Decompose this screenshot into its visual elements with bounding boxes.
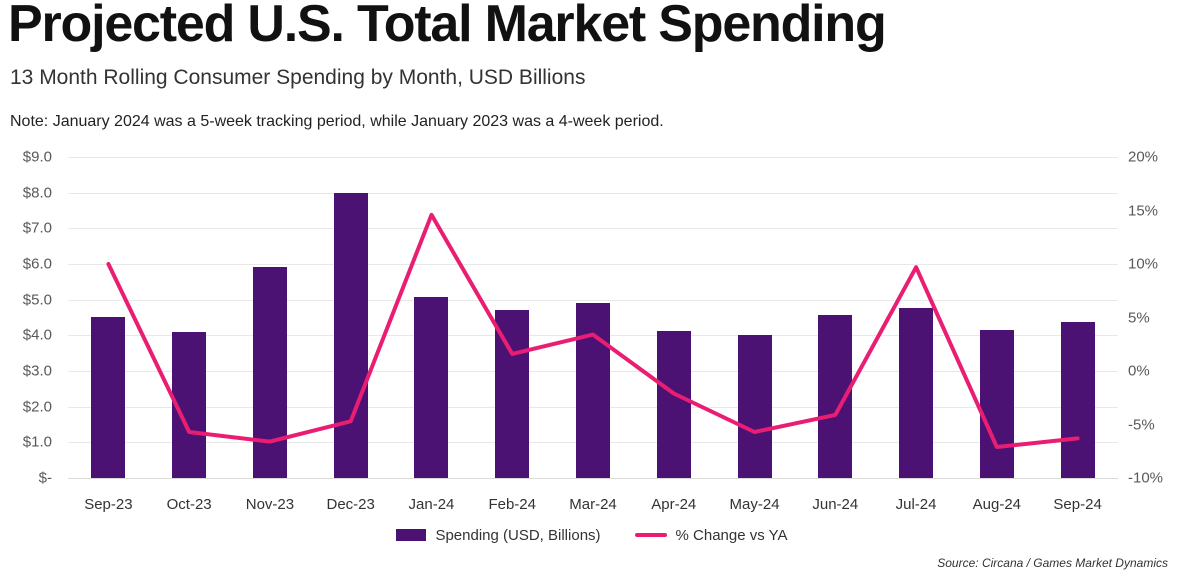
line-path [108, 215, 1077, 447]
right-axis-tick: -10% [1128, 470, 1163, 487]
plot-area: $9.0$8.0$7.0$6.0$5.0$4.0$3.0$2.0$1.0$- 2… [0, 145, 1184, 490]
right-axis-tick: 10% [1128, 256, 1158, 273]
left-axis-tick: $9.0 [23, 149, 52, 166]
right-axis-tick: 20% [1128, 149, 1158, 166]
chart-note: Note: January 2024 was a 5-week tracking… [10, 113, 664, 131]
x-axis-tick: Jun-24 [812, 496, 858, 513]
left-axis-tick: $5.0 [23, 291, 52, 308]
x-axis-tick: Feb-24 [488, 496, 536, 513]
x-axis-labels: Sep-23Oct-23Nov-23Dec-23Jan-24Feb-24Mar-… [68, 496, 1118, 522]
x-axis-tick: Sep-24 [1053, 496, 1101, 513]
legend-label: Spending (USD, Billions) [435, 527, 600, 544]
left-axis-tick: $4.0 [23, 327, 52, 344]
right-axis-labels: 20%15%10%5%0%-5%-10% [1118, 145, 1184, 490]
left-axis-labels: $9.0$8.0$7.0$6.0$5.0$4.0$3.0$2.0$1.0$- [0, 145, 62, 490]
legend-line-swatch-icon [635, 533, 667, 537]
x-axis-tick: May-24 [730, 496, 780, 513]
left-axis-tick: $- [39, 470, 52, 487]
legend-item[interactable]: Spending (USD, Billions) [396, 527, 600, 544]
chart-page: Projected U.S. Total Market Spending 13 … [0, 0, 1184, 582]
source-note: Source: Circana / Games Market Dynamics [937, 556, 1168, 570]
right-axis-tick: 15% [1128, 202, 1158, 219]
legend-item[interactable]: % Change vs YA [635, 527, 788, 544]
x-axis-tick: Nov-23 [246, 496, 294, 513]
left-axis-tick: $1.0 [23, 434, 52, 451]
left-axis-tick: $7.0 [23, 220, 52, 237]
page-title: Projected U.S. Total Market Spending [8, 0, 886, 50]
legend-label: % Change vs YA [676, 527, 788, 544]
left-axis-tick: $2.0 [23, 398, 52, 415]
x-axis-tick: Oct-23 [167, 496, 212, 513]
x-axis-tick: Aug-24 [973, 496, 1021, 513]
right-axis-tick: 0% [1128, 363, 1150, 380]
legend-bar-swatch-icon [396, 529, 426, 541]
left-axis-tick: $6.0 [23, 256, 52, 273]
page-subtitle: 13 Month Rolling Consumer Spending by Mo… [10, 66, 585, 90]
x-axis-tick: Sep-23 [84, 496, 132, 513]
x-axis-tick: Apr-24 [651, 496, 696, 513]
chart-legend: Spending (USD, Billions)% Change vs YA [0, 522, 1184, 548]
right-axis-tick: 5% [1128, 309, 1150, 326]
left-axis-tick: $8.0 [23, 184, 52, 201]
x-axis-tick: Jan-24 [409, 496, 455, 513]
x-axis-tick: Jul-24 [896, 496, 937, 513]
right-axis-tick: -5% [1128, 416, 1155, 433]
line-series [68, 145, 1118, 490]
x-axis-tick: Dec-23 [327, 496, 375, 513]
x-axis-tick: Mar-24 [569, 496, 617, 513]
grid-area [68, 145, 1118, 490]
left-axis-tick: $3.0 [23, 363, 52, 380]
